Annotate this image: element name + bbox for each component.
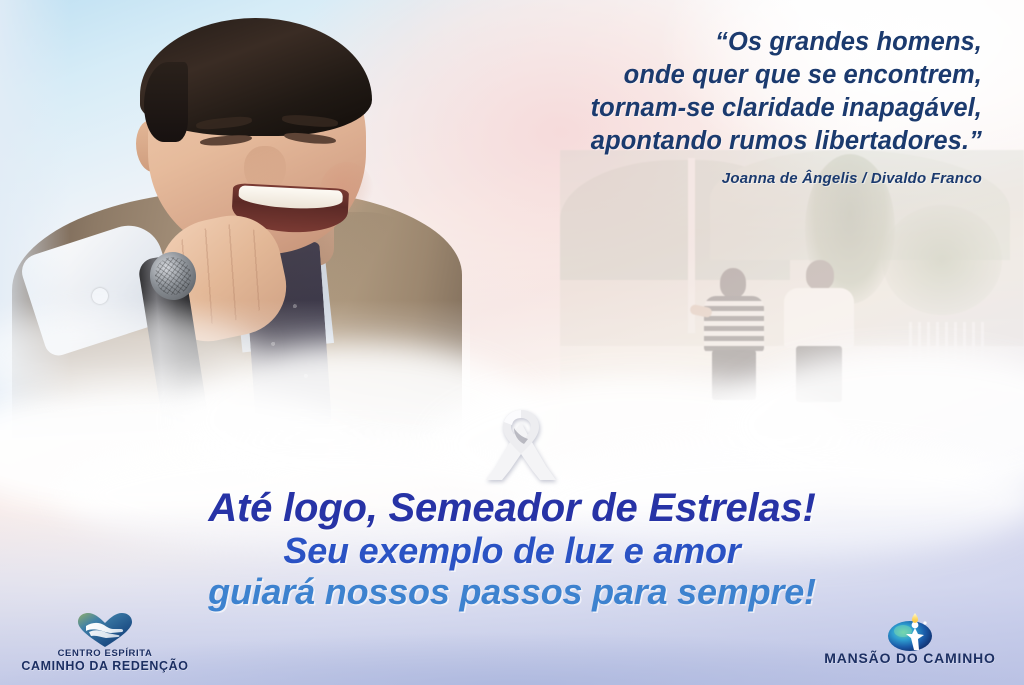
headline-block: Até logo, Semeador de Estrelas! Seu exem… bbox=[0, 486, 1024, 612]
quote-text: “Os grandes homens, onde quer que se enc… bbox=[382, 26, 982, 158]
logo-left-line-2: CAMINHO DA REDENÇÃO bbox=[10, 660, 200, 672]
quote-line-2: onde quer que se encontrem, bbox=[382, 59, 982, 92]
faded-photo-two-men-walking bbox=[560, 150, 1024, 440]
quote-author: Joanna de Ângelis / Divaldo Franco bbox=[382, 170, 982, 187]
logo-mansao-do-caminho: MANSÃO DO CAMINHO bbox=[810, 612, 1010, 664]
heart-with-hands-icon bbox=[77, 612, 133, 648]
headline-line-3: guiará nossos passos para sempre! bbox=[0, 571, 1024, 612]
tribute-poster: “Os grandes homens, onde quer que se enc… bbox=[0, 0, 1024, 685]
headline-line-2: Seu exemplo de luz e amor bbox=[0, 530, 1024, 571]
quote-line-3: tornam-se claridade inapagável, bbox=[382, 92, 982, 125]
quote-line-1: “Os grandes homens, bbox=[382, 26, 982, 59]
quote-line-4: apontando rumos libertadores.” bbox=[382, 125, 982, 158]
logo-centro-espirita: CENTRO ESPÍRITA CAMINHO DA REDENÇÃO bbox=[10, 612, 200, 672]
headline-line-1: Até logo, Semeador de Estrelas! bbox=[0, 486, 1024, 530]
white-mourning-ribbon-icon bbox=[484, 408, 558, 486]
logo-right-line-2: MANSÃO DO CAMINHO bbox=[810, 652, 1010, 664]
globe-with-figure-and-flame-icon bbox=[884, 612, 936, 652]
